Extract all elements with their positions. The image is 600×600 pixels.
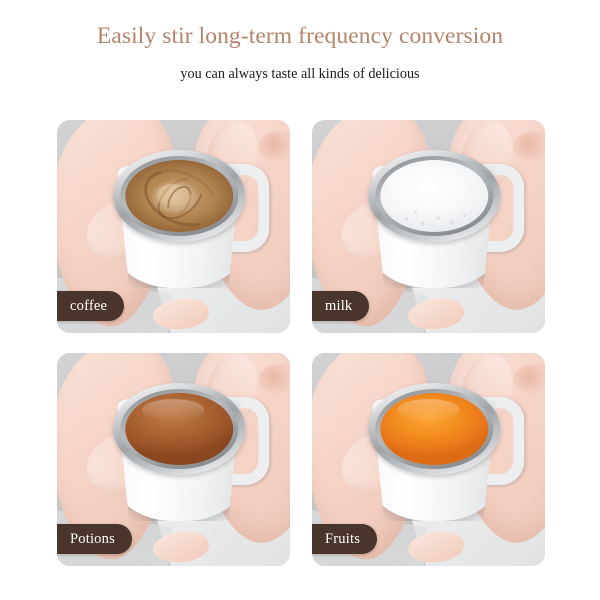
beverage-tag-fruits: Fruits [312,524,377,554]
knuckle-shading [257,129,290,163]
knuckle-shading [512,362,545,396]
liquid-coffee [125,160,233,232]
liquid-surface-gloss [142,399,205,421]
beverage-tag-milk: milk [312,291,369,321]
beverage-tag-coffee: coffee [57,291,124,321]
self-stirring-mug [368,150,500,290]
product-panel-potions[interactable]: Potions [57,353,290,566]
knuckle-shading [512,129,545,163]
liquid-juice [380,393,488,465]
self-stirring-mug [113,150,245,290]
knuckle-shading [257,362,290,396]
page-subtitle: you can always taste all kinds of delici… [0,67,600,83]
milk-froth-bubbles [388,200,479,230]
liquid-tea [125,393,233,465]
page-title: Easily stir long-term frequency conversi… [0,24,600,50]
product-panel-milk[interactable]: milk [312,120,545,333]
product-panel-fruits[interactable]: Fruits [312,353,545,566]
self-stirring-mug [368,383,500,523]
product-showcase-grid: coffee milk [57,120,545,566]
product-panel-coffee[interactable]: coffee [57,120,290,333]
liquid-milk [380,160,488,232]
header: Easily stir long-term frequency conversi… [0,0,600,82]
beverage-tag-potions: Potions [57,524,132,554]
self-stirring-mug [113,383,245,523]
liquid-surface-gloss [397,399,460,421]
